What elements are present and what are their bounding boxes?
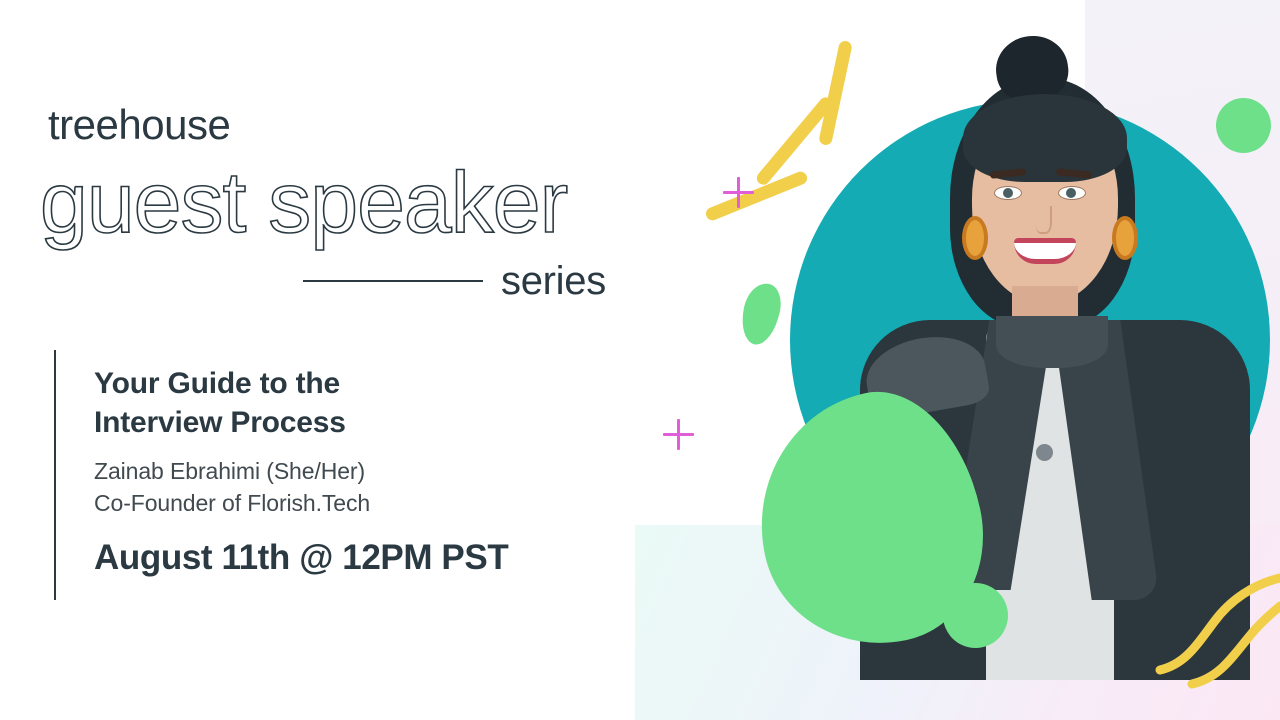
portrait-jacket-collar xyxy=(996,316,1108,368)
slide-canvas: treehouse guest speaker series Your Guid… xyxy=(0,0,1280,720)
talk-title: Your Guide to the Interview Process xyxy=(94,364,508,442)
green-blob-small-shape xyxy=(737,280,785,348)
portrait-pupil xyxy=(1066,188,1076,198)
plus-bar-vertical xyxy=(737,177,740,208)
series-divider-rule xyxy=(303,280,483,282)
plus-mark-icon xyxy=(663,419,694,450)
plus-mark-icon xyxy=(723,177,754,208)
series-label-row: series xyxy=(303,258,628,304)
talk-title-line-1: Your Guide to the xyxy=(94,367,340,400)
portrait-pupil xyxy=(1003,188,1013,198)
yellow-wave-shape xyxy=(1130,560,1280,720)
portrait-jacket-button xyxy=(1036,444,1053,461)
portrait-hair-front xyxy=(963,94,1127,182)
portrait-earring xyxy=(1112,216,1138,260)
portrait-earring xyxy=(962,216,988,260)
green-circle-shape xyxy=(1216,98,1271,153)
speaker-name: Zainab Ebrahimi (She/Her) xyxy=(94,456,508,488)
content-column: treehouse guest speaker series Your Guid… xyxy=(0,0,660,720)
event-datetime: August 11th @ 12PM PST xyxy=(94,537,508,579)
talk-title-line-2: Interview Process xyxy=(94,406,346,439)
series-headline: guest speaker xyxy=(40,160,567,246)
series-label: series xyxy=(501,261,606,301)
portrait-nose xyxy=(1036,206,1052,234)
speaker-role: Co-Founder of Florish.Tech xyxy=(94,488,508,520)
brand-wordmark: treehouse xyxy=(48,104,230,146)
yellow-wave-line xyxy=(1192,606,1280,684)
green-circle-shape xyxy=(943,583,1008,648)
event-info-block: Your Guide to the Interview Process Zain… xyxy=(54,350,508,600)
portrait-smile xyxy=(1014,238,1076,264)
plus-bar-vertical xyxy=(677,419,680,450)
